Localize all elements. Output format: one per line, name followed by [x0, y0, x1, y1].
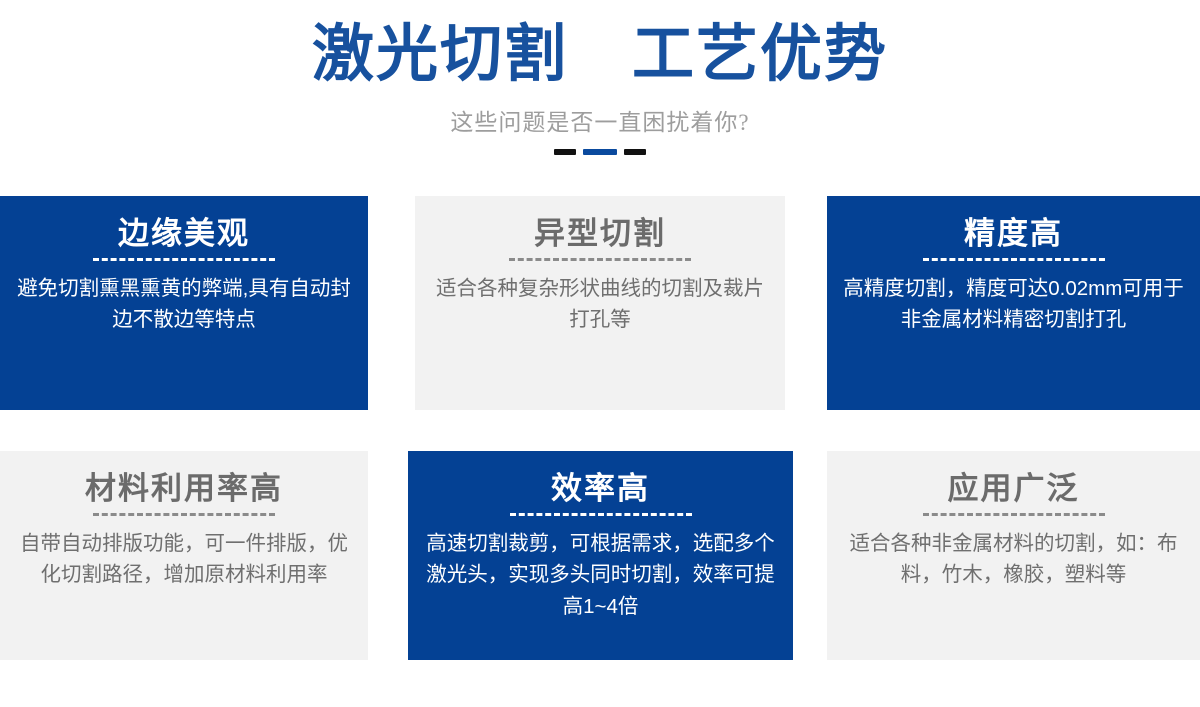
card-body: 自带自动排版功能，可一件排版，优化切割路径，增加原材料利用率: [14, 528, 354, 592]
card-title: 精度高: [964, 216, 1063, 252]
dash-dark-left-icon: [554, 149, 576, 155]
card-body: 适合各种复杂形状曲线的切割及裁片打孔等: [429, 273, 771, 337]
title-decoration: [540, 148, 660, 156]
feature-card-high-efficiency[interactable]: 效率高 高速切割裁剪，可根据需求，选配多个激光头，实现多头同时切割，效率可提高1…: [408, 451, 793, 660]
card-divider: [923, 513, 1105, 516]
dash-dark-right-icon: [624, 149, 646, 155]
card-title: 应用广泛: [948, 471, 1080, 507]
card-divider: [510, 513, 692, 516]
card-title: 材料利用率高: [85, 471, 283, 507]
card-body: 高精度切割，精度可达0.02mm可用于非金属材料精密切割打孔: [841, 273, 1186, 337]
feature-card-grid: 边缘美观 避免切割熏黑熏黄的弊端,具有自动封边不散边等特点 异型切割 适合各种复…: [0, 196, 1200, 660]
feature-card-edge-beauty[interactable]: 边缘美观 避免切割熏黑熏黄的弊端,具有自动封边不散边等特点: [0, 196, 368, 410]
feature-row-bottom: 材料利用率高 自带自动排版功能，可一件排版，优化切割路径，增加原材料利用率 效率…: [0, 451, 1200, 660]
dash-blue-center-icon: [583, 149, 617, 155]
feature-card-high-precision[interactable]: 精度高 高精度切割，精度可达0.02mm可用于非金属材料精密切割打孔: [827, 196, 1200, 410]
feature-card-shaped-cutting[interactable]: 异型切割 适合各种复杂形状曲线的切割及裁片打孔等: [415, 196, 785, 410]
grid-gap: [368, 451, 408, 660]
card-title: 效率高: [551, 471, 650, 507]
card-body: 避免切割熏黑熏黄的弊端,具有自动封边不散边等特点: [14, 273, 354, 337]
feature-row-top: 边缘美观 避免切割熏黑熏黄的弊端,具有自动封边不散边等特点 异型切割 适合各种复…: [0, 196, 1200, 410]
page-title: 激光切割 工艺优势: [0, 22, 1200, 89]
card-divider: [93, 258, 275, 261]
feature-card-material-utilization[interactable]: 材料利用率高 自带自动排版功能，可一件排版，优化切割路径，增加原材料利用率: [0, 451, 368, 660]
feature-card-wide-application[interactable]: 应用广泛 适合各种非金属材料的切割，如：布料，竹木，橡胶，塑料等: [827, 451, 1200, 660]
card-body: 适合各种非金属材料的切割，如：布料，竹木，橡胶，塑料等: [841, 528, 1186, 592]
card-title: 边缘美观: [118, 216, 250, 252]
card-divider: [923, 258, 1105, 261]
page-subtitle: 这些问题是否一直困扰着你?: [0, 103, 1200, 137]
card-divider: [509, 258, 691, 261]
page-header: 激光切割 工艺优势 这些问题是否一直困扰着你?: [0, 0, 1200, 156]
grid-gap: [793, 451, 827, 660]
grid-gap: [785, 196, 827, 410]
card-divider: [93, 513, 275, 516]
card-title: 异型切割: [534, 216, 666, 252]
grid-gap: [368, 196, 415, 410]
card-body: 高速切割裁剪，可根据需求，选配多个激光头，实现多头同时切割，效率可提高1~4倍: [422, 528, 779, 623]
